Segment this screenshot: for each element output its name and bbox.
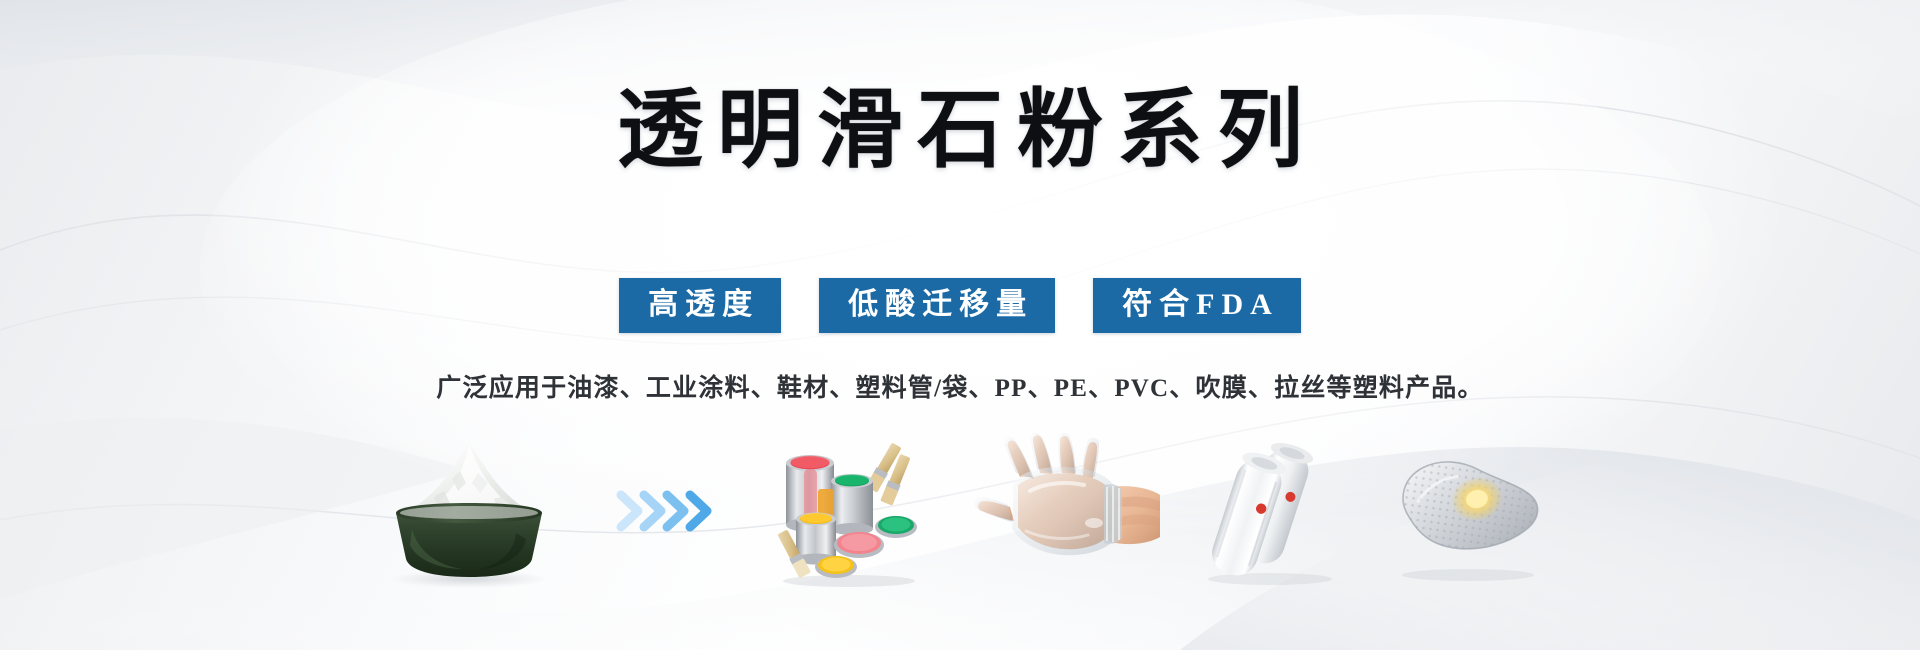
badge-fda-compliant: 符合FDA xyxy=(1093,278,1301,333)
application-description: 广泛应用于油漆、工业涂料、鞋材、塑料管/袋、PP、PE、PVC、吹膜、拉丝等塑料… xyxy=(0,372,1920,406)
shoe-insole-image xyxy=(1380,433,1555,588)
plastic-glove-hand-image xyxy=(970,433,1160,588)
product-image-strip xyxy=(0,428,1920,588)
product-banner: 透明滑石粉系列 高透度 低酸迁移量 符合FDA 广泛应用于油漆、工业涂料、鞋材、… xyxy=(0,0,1920,650)
plastic-film-rolls-image xyxy=(1190,433,1350,588)
badge-low-acid-migration: 低酸迁移量 xyxy=(819,278,1055,333)
talc-powder-bowl-image xyxy=(366,433,576,588)
badge-high-transparency: 高透度 xyxy=(619,278,781,333)
flow-arrows-icon xyxy=(610,433,730,588)
page-title: 透明滑石粉系列 xyxy=(0,78,1920,182)
feature-badge-group: 高透度 低酸迁移量 符合FDA xyxy=(0,278,1920,333)
paint-cans-image xyxy=(774,433,924,588)
